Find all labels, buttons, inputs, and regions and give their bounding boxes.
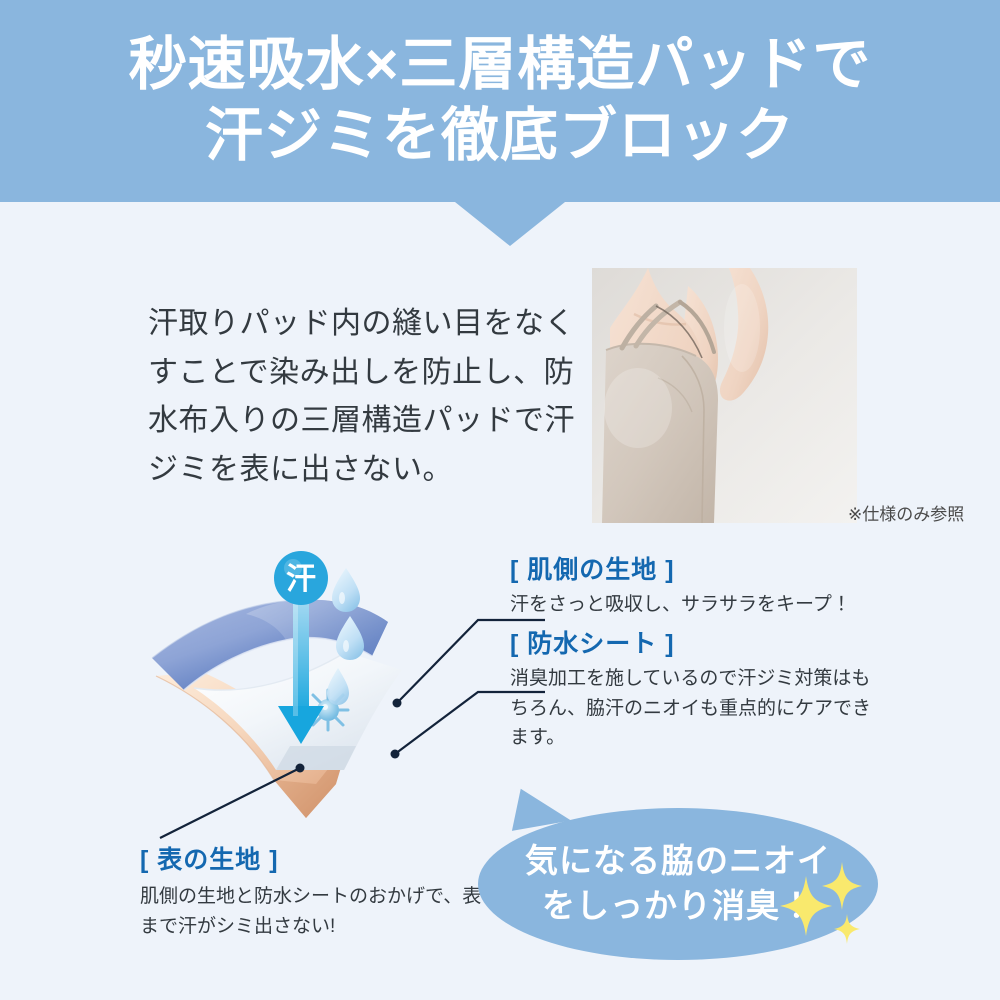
callout-waterproof-body: 消臭加工を施しているので汗ジミ対策はもちろん、脇汗のニオイも重点的にケアできます… — [510, 664, 880, 753]
sweat-badge-label: 汗 — [286, 563, 316, 596]
photo-caption: ※仕様のみ参照 — [848, 500, 964, 525]
speech-bubble-tail — [505, 781, 571, 831]
header-banner: 秒速吸水×三層構造パッドで 汗ジミを徹底ブロック — [0, 0, 1000, 202]
infographic-page: 秒速吸水×三層構造パッドで 汗ジミを徹底ブロック 汗取りパッド内の縫い目をなくす… — [0, 0, 1000, 1000]
header-title-line1: 秒速吸水×三層構造パッドで — [129, 33, 872, 98]
three-layer-diagram: 汗 — [150, 548, 480, 848]
deodorant-speech-bubble: 気になる脇のニオイ をしっかり消臭！ — [478, 808, 878, 960]
callout-waterproof-sheet: [ 防水シート ] 消臭加工を施しているので汗ジミ対策はもちろん、脇汗のニオイも… — [510, 624, 880, 753]
bubble-line2: をしっかり消臭！ — [542, 885, 814, 928]
callout-skin-side-fabric: [ 肌側の生地 ] 汗をさっと吸収し、サラサラをキープ！ — [510, 550, 910, 620]
callout-skin-body: 汗をさっと吸収し、サラサラをキープ！ — [510, 590, 910, 620]
intro-paragraph: 汗取りパッド内の縫い目をなくすことで染み出しを防止し、防水布入りの三層構造パッド… — [148, 300, 588, 494]
callout-skin-title: [ 肌側の生地 ] — [510, 550, 910, 586]
product-photo — [592, 268, 857, 523]
sparkle-icon — [776, 862, 872, 948]
header-notch-triangle — [455, 202, 565, 246]
callout-waterproof-title: [ 防水シート ] — [510, 624, 880, 660]
sweat-badge: 汗 — [274, 551, 328, 605]
header-title-line2: 汗ジミを徹底ブロック — [205, 104, 795, 169]
